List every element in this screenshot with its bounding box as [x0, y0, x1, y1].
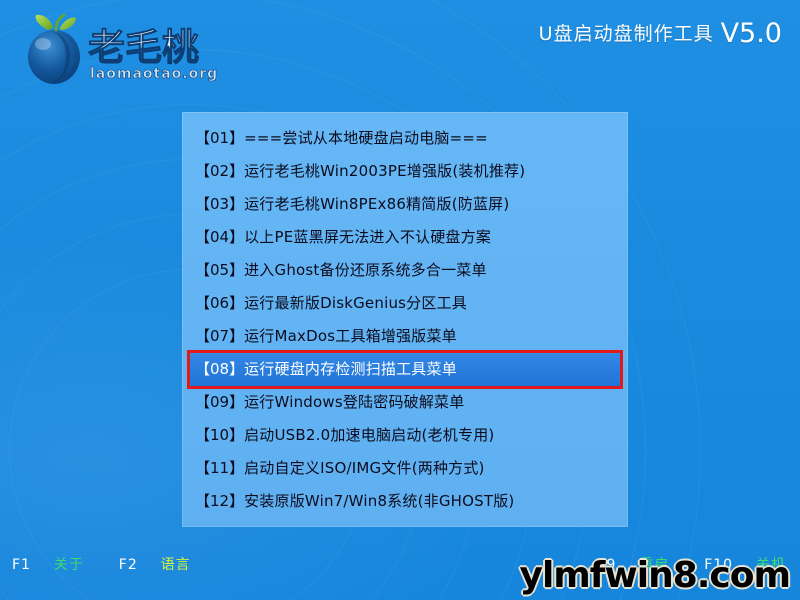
f2-key: F2: [119, 557, 138, 573]
boot-menu-item-index: 【10】: [195, 426, 244, 444]
boot-menu-item[interactable]: 【11】启动自定义ISO/IMG文件(两种方式): [182, 452, 628, 485]
boot-menu-item-index: 【04】: [195, 228, 244, 246]
boot-menu-item-index: 【12】: [195, 492, 244, 510]
boot-menu-item-label: ===尝试从本地硬盘启动电脑===: [244, 129, 488, 147]
boot-menu-item-label: 以上PE蓝黑屏无法进入不认硬盘方案: [244, 228, 491, 246]
boot-menu-item-label: 运行老毛桃Win2003PE增强版(装机推荐): [244, 162, 525, 180]
boot-menu-item-index: 【02】: [195, 162, 244, 180]
f1-action[interactable]: 关于: [54, 557, 84, 573]
boot-menu-item-index: 【01】: [195, 129, 244, 147]
app-title-text: U盘启动盘制作工具: [539, 23, 714, 45]
app-title: U盘启动盘制作工具V5.0: [539, 18, 782, 49]
boot-menu-item-label: 进入Ghost备份还原系统多合一菜单: [244, 261, 487, 279]
boot-menu-item-label: 运行MaxDos工具箱增强版菜单: [244, 327, 457, 345]
footer-hotkeys-left: F1 关于 F2 语言: [12, 554, 191, 574]
boot-menu-panel: 【01】===尝试从本地硬盘启动电脑===【02】运行老毛桃Win2003PE增…: [182, 112, 628, 527]
boot-menu-item-label: 安装原版Win7/Win8系统(非GHOST版): [244, 492, 514, 510]
boot-menu-item[interactable]: 【05】进入Ghost备份还原系统多合一菜单: [182, 254, 628, 287]
boot-menu-item-index: 【06】: [195, 294, 244, 312]
boot-menu-item[interactable]: 【03】运行老毛桃Win8PEx86精简版(防蓝屏): [182, 188, 628, 221]
boot-menu-item-label: 运行最新版DiskGenius分区工具: [244, 294, 467, 312]
boot-menu-item-index: 【08】: [195, 360, 244, 378]
boot-menu-item[interactable]: 【06】运行最新版DiskGenius分区工具: [182, 287, 628, 320]
boot-menu-item-label: 运行硬盘内存检测扫描工具菜单: [244, 360, 457, 378]
boot-menu-item[interactable]: 【04】以上PE蓝黑屏无法进入不认硬盘方案: [182, 221, 628, 254]
f1-key: F1: [12, 557, 31, 573]
boot-menu-item[interactable]: 【02】运行老毛桃Win2003PE增强版(装机推荐): [182, 155, 628, 188]
header: 老毛桃 laomaotao.org U盘启动盘制作工具V5.0: [0, 0, 800, 100]
boot-menu-item-index: 【11】: [195, 459, 244, 477]
boot-menu-item-label: 运行Windows登陆密码破解菜单: [244, 393, 464, 411]
boot-menu-item[interactable]: 【12】安装原版Win7/Win8系统(非GHOST版): [182, 485, 628, 518]
boot-menu-item-index: 【07】: [195, 327, 244, 345]
boot-menu-item[interactable]: 【08】运行硬盘内存检测扫描工具菜单: [190, 353, 620, 386]
site-watermark: ylmfwin8.com: [519, 555, 790, 596]
svg-text:laomaotao.org: laomaotao.org: [90, 66, 218, 82]
boot-menu-item[interactable]: 【01】===尝试从本地硬盘启动电脑===: [182, 122, 628, 155]
svg-text:老毛桃: 老毛桃: [88, 26, 199, 69]
app-version: V5.0: [721, 18, 782, 49]
boot-menu-item-index: 【03】: [195, 195, 244, 213]
boot-menu-item-label: 启动USB2.0加速电脑启动(老机专用): [244, 426, 494, 444]
boot-menu-item-label: 运行老毛桃Win8PEx86精简版(防蓝屏): [244, 195, 509, 213]
boot-menu-item-index: 【09】: [195, 393, 244, 411]
boot-menu-screen: 老毛桃 laomaotao.org U盘启动盘制作工具V5.0 【01】===尝…: [0, 0, 800, 600]
boot-menu-item[interactable]: 【07】运行MaxDos工具箱增强版菜单: [182, 320, 628, 353]
boot-menu-item[interactable]: 【09】运行Windows登陆密码破解菜单: [182, 386, 628, 419]
boot-menu-item-label: 启动自定义ISO/IMG文件(两种方式): [244, 459, 485, 477]
f2-action[interactable]: 语言: [161, 557, 191, 573]
boot-menu-list[interactable]: 【01】===尝试从本地硬盘启动电脑===【02】运行老毛桃Win2003PE增…: [182, 122, 628, 518]
boot-menu-item-index: 【05】: [195, 261, 244, 279]
boot-menu-item[interactable]: 【10】启动USB2.0加速电脑启动(老机专用): [182, 419, 628, 452]
peach-logo-icon: 老毛桃 laomaotao.org: [18, 8, 233, 92]
